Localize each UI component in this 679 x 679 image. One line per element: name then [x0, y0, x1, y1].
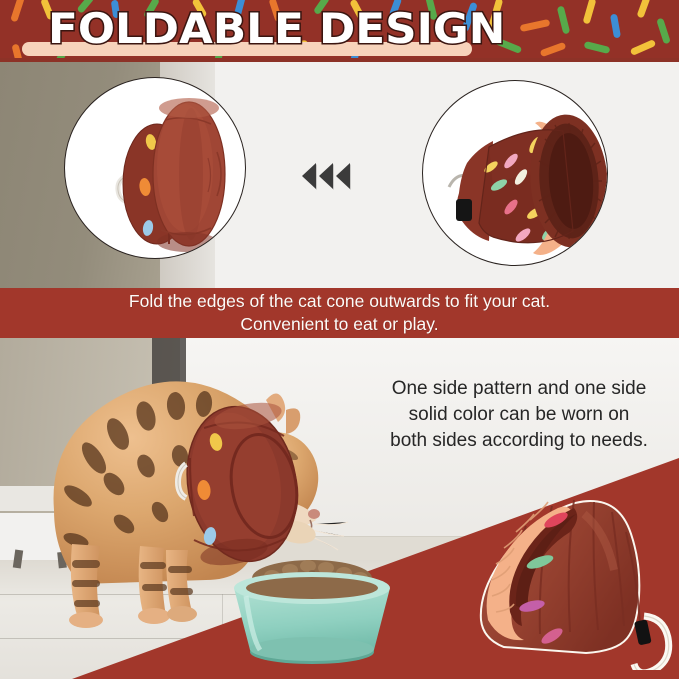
product-cone-shot — [466, 470, 679, 670]
page-title: FOLDABLE DESIGN — [48, 4, 505, 53]
banner-line-2: Convenient to eat or play. — [240, 313, 438, 336]
sprinkle-icon — [583, 0, 597, 24]
feature-description: One side pattern and one side solid colo… — [366, 376, 672, 454]
feature-line-3: both sides according to needs. — [366, 428, 672, 454]
instruction-banner: Fold the edges of the cat cone outwards … — [0, 288, 679, 338]
sprinkle-icon — [584, 41, 611, 54]
fold-direction-arrows — [302, 163, 350, 189]
header-bottom-edge — [0, 58, 679, 62]
sprinkle-icon — [636, 0, 650, 19]
sprinkle-icon — [630, 39, 657, 56]
arrow-left-icon — [302, 163, 316, 189]
unfolded-cone-illustration — [423, 81, 608, 266]
product-infographic: FOLDABLE DESIGN — [0, 0, 679, 679]
sprinkle-icon — [540, 42, 567, 57]
sprinkle-icon — [10, 0, 25, 22]
feature-line-1: One side pattern and one side — [366, 376, 672, 402]
folded-cone-illustration — [65, 78, 246, 259]
sprinkle-icon — [557, 6, 571, 35]
header-banner: FOLDABLE DESIGN — [0, 0, 679, 62]
floor-grout-line — [430, 594, 431, 679]
sprinkle-icon — [610, 14, 621, 39]
sprinkle-icon — [520, 19, 551, 32]
folded-cone-photo-circle — [64, 77, 246, 259]
lifestyle-photo-section: One side pattern and one side solid colo… — [0, 338, 679, 679]
arrow-left-icon — [336, 163, 350, 189]
sprinkle-icon — [656, 18, 671, 45]
food-bowl — [212, 548, 412, 668]
banner-line-1: Fold the edges of the cat cone outwards … — [129, 290, 550, 313]
arrow-left-icon — [319, 163, 333, 189]
demo-section — [0, 62, 679, 289]
feature-line-2: solid color can be worn on — [366, 402, 672, 428]
unfolded-cone-photo-circle — [422, 80, 608, 266]
